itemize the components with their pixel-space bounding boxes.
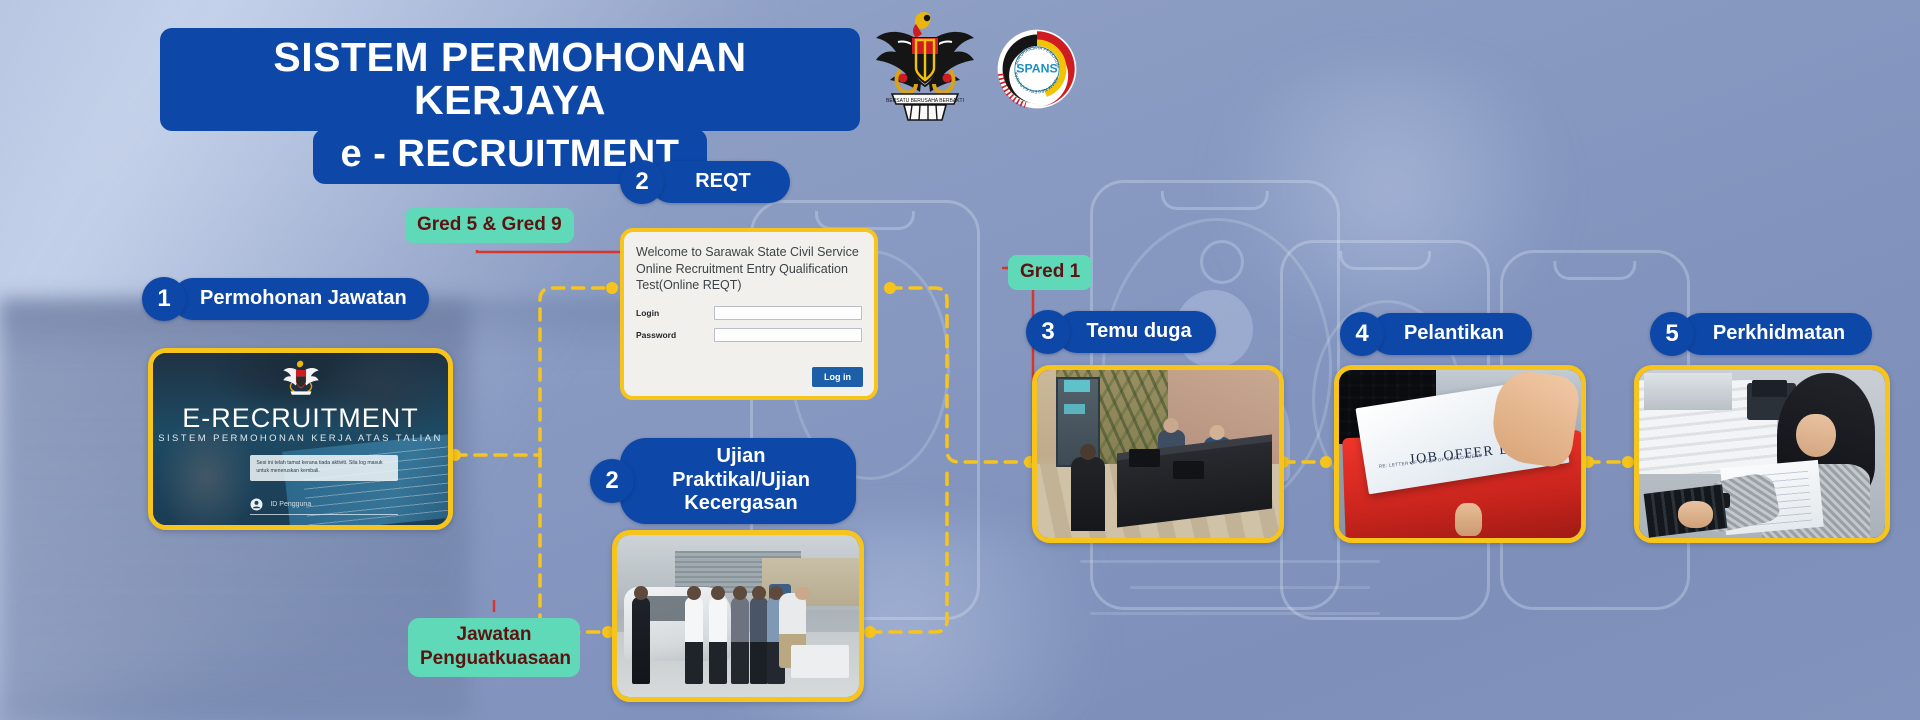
erecruitment-title: E-RECRUITMENT [153, 403, 448, 434]
step-5-perkhidmatan[interactable]: 5 Perkhidmatan [1650, 312, 1872, 356]
reqt-welcome-text: Welcome to Sarawak State Civil Service O… [636, 244, 862, 294]
erecruitment-password-field[interactable]: Kata Laluan [250, 523, 398, 530]
step-number-badge: 2 [590, 459, 634, 503]
reqt-password-row: Password [636, 328, 862, 342]
photo-person [731, 597, 749, 684]
card-practical-test-photo[interactable] [612, 530, 864, 702]
tag-gred-5-9: Gred 5 & Gred 9 [405, 208, 574, 243]
step-label: REQT [650, 161, 790, 204]
step-number-badge: 3 [1026, 310, 1070, 354]
photo-thumb [1455, 503, 1482, 537]
photo-screen-label [1064, 380, 1091, 392]
divider-watermark [1080, 560, 1380, 563]
photo-person [709, 597, 727, 684]
spans-logo-icon: SURUHANJAYA PERKHIDMATAN AWAM NEGERI SAR… [996, 28, 1078, 110]
step-number-badge: 1 [142, 277, 186, 321]
step-label: Perkhidmatan [1680, 313, 1872, 356]
erecruitment-password-label: Kata Laluan [270, 529, 307, 530]
reqt-login-button[interactable]: Log in [812, 367, 863, 387]
erecruitment-subtitle: SISTEM PERMOHONAN KERJA ATAS TALIAN [153, 433, 448, 444]
step-2-reqt[interactable]: 2 REQT [620, 160, 790, 204]
card-service-photo[interactable] [1634, 365, 1890, 543]
reqt-login-panel[interactable]: Welcome to Sarawak State Civil Service O… [620, 228, 878, 400]
reqt-login-row: Login [636, 306, 862, 320]
step-number-badge: 2 [620, 160, 664, 204]
sarawak-crest-small-icon [281, 358, 321, 396]
photo-screen-label [1064, 404, 1086, 414]
step-number-badge: 5 [1650, 312, 1694, 356]
step-label: Permohonan Jawatan [172, 278, 429, 321]
erecruitment-user-field[interactable]: ID Pengguna [250, 495, 398, 515]
step-4-pelantikan[interactable]: 4 Pelantikan [1340, 312, 1532, 356]
session-expired-notice: Sesi ini telah tamat kerana tiada aktivi… [250, 455, 398, 481]
card-erecruitment-screenshot[interactable]: E-RECRUITMENT SISTEM PERMOHONAN KERJA AT… [148, 348, 453, 530]
step-3-temu-duga[interactable]: 3 Temu duga [1026, 310, 1216, 354]
interview-image [1037, 370, 1279, 538]
poster-canvas: SISTEM PERMOHONAN KERJAYA e - RECRUITMEN… [0, 0, 1920, 720]
step-label: Temu duga [1056, 311, 1216, 354]
step-1-permohonan-jawatan[interactable]: 1 Permohonan Jawatan [142, 277, 429, 321]
photo-calculator [1752, 380, 1786, 397]
job-offer-image: RE: LETTER OF OFFER OF EMPLOYMENT JOB OF… [1339, 370, 1581, 538]
svg-text:BERSATU BERUSAHA BERBAKTI: BERSATU BERUSAHA BERBAKTI [886, 98, 964, 104]
reqt-password-input[interactable] [714, 328, 862, 342]
card-interview-photo[interactable] [1032, 365, 1284, 543]
service-image [1639, 370, 1885, 538]
badge-watermark-icon [1200, 240, 1244, 284]
practical-test-image [617, 535, 859, 697]
photo-laptop [1173, 461, 1204, 479]
erecruitment-login-page: E-RECRUITMENT SISTEM PERMOHONAN KERJA AT… [153, 353, 448, 525]
photo-officer-face [1796, 414, 1835, 458]
lock-icon [250, 526, 263, 530]
divider-watermark [1090, 612, 1380, 615]
photo-table [791, 645, 849, 677]
photo-shelf [1644, 373, 1733, 410]
photo-person [685, 597, 703, 684]
step-2-ujian-praktikal[interactable]: 2 Ujian Praktikal/Ujian Kecergasan [590, 438, 856, 524]
svg-text:SPANS: SPANS [1016, 61, 1057, 75]
user-icon [250, 498, 263, 511]
reqt-login-label: Login [636, 308, 714, 318]
photo-person [632, 597, 650, 684]
card-job-offer-photo[interactable]: RE: LETTER OF OFFER OF EMPLOYMENT JOB OF… [1334, 365, 1586, 543]
photo-officer-hand [1678, 501, 1712, 528]
step-label: Pelantikan [1370, 313, 1532, 356]
photo-person [750, 597, 768, 684]
title-line-1: SISTEM PERMOHONAN KERJAYA [160, 28, 860, 131]
photo-candidate [1071, 457, 1105, 531]
tag-jawatan-penguatkuasaan: Jawatan Penguatkuasaan [408, 618, 580, 677]
reqt-login-input[interactable] [714, 306, 862, 320]
divider-watermark [1130, 586, 1370, 589]
step-number-badge: 4 [1340, 312, 1384, 356]
reqt-password-label: Password [636, 330, 714, 340]
step-label: Ujian Praktikal/Ujian Kecergasan [620, 438, 856, 524]
sarawak-coat-of-arms-icon: BERSATU BERUSAHA BERBAKTI [870, 4, 980, 122]
logo-group: BERSATU BERUSAHA BERBAKTI SURUHANJAYA PE… [870, 4, 1110, 124]
tag-gred-1: Gred 1 [1008, 255, 1092, 290]
erecruitment-user-label: ID Pengguna [270, 501, 311, 508]
photo-laptop [1129, 449, 1160, 467]
